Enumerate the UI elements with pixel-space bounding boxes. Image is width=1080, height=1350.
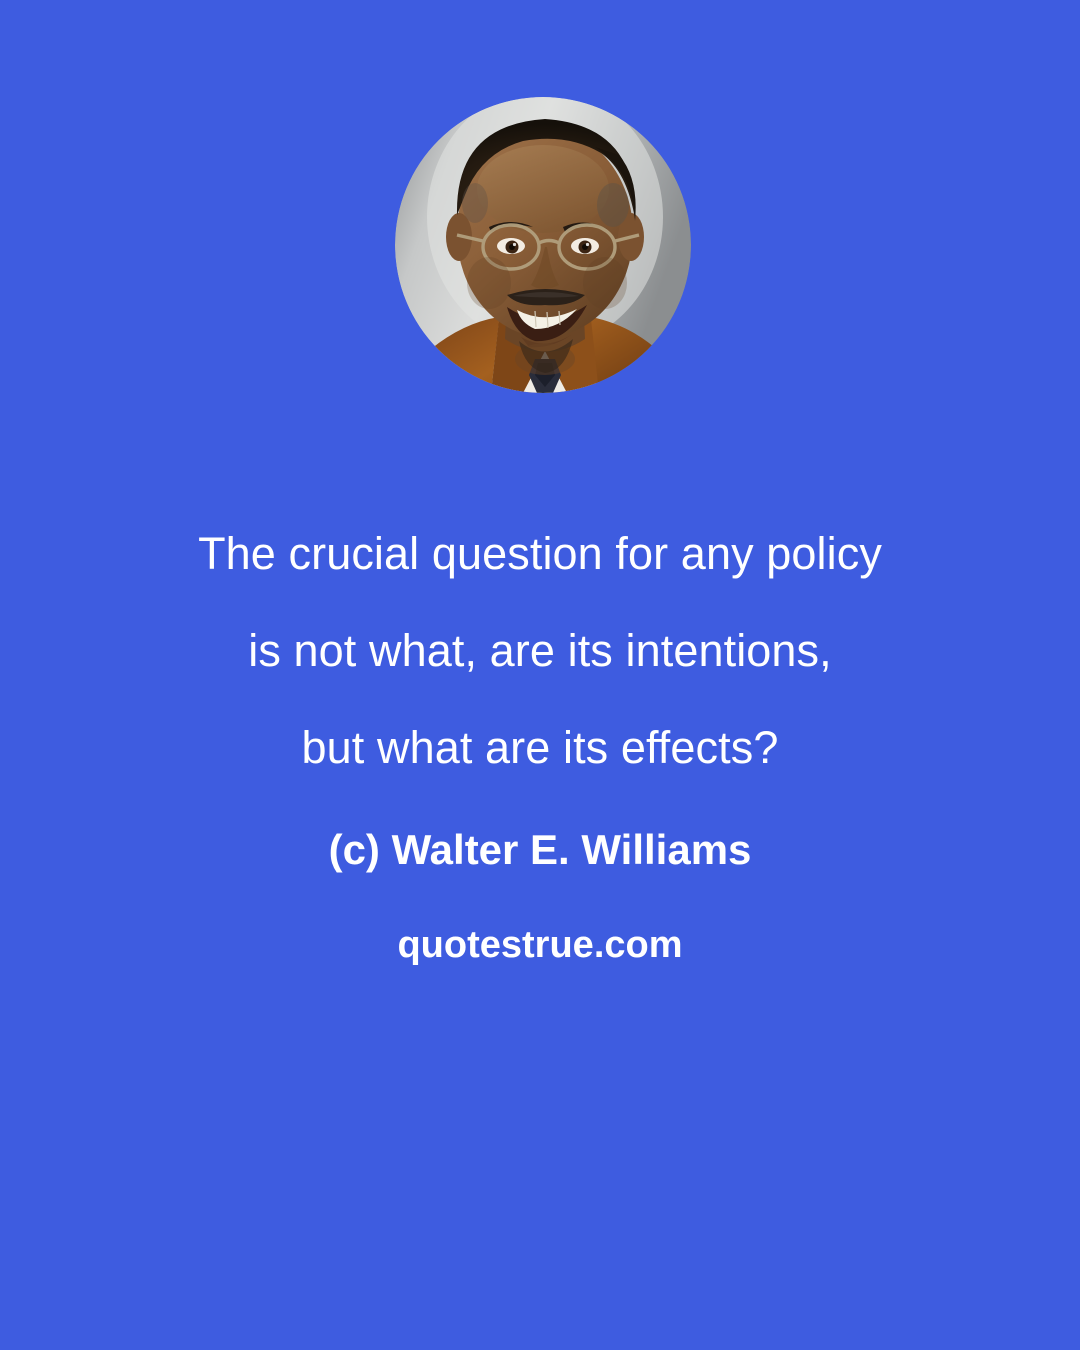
- quote-line-2: is not what, are its intentions,: [0, 602, 1080, 699]
- quote-card: The crucial question for any policy is n…: [0, 0, 1080, 1350]
- avatar: [395, 97, 691, 393]
- quote-line-3: but what are its effects?: [0, 699, 1080, 796]
- quote-attribution: (c) Walter E. Williams: [0, 802, 1080, 898]
- site-watermark: quotestrue.com: [0, 898, 1080, 992]
- quote-line-1: The crucial question for any policy: [0, 505, 1080, 602]
- portrait-photo-icon: [395, 97, 691, 393]
- quote-text-block: The crucial question for any policy is n…: [0, 505, 1080, 992]
